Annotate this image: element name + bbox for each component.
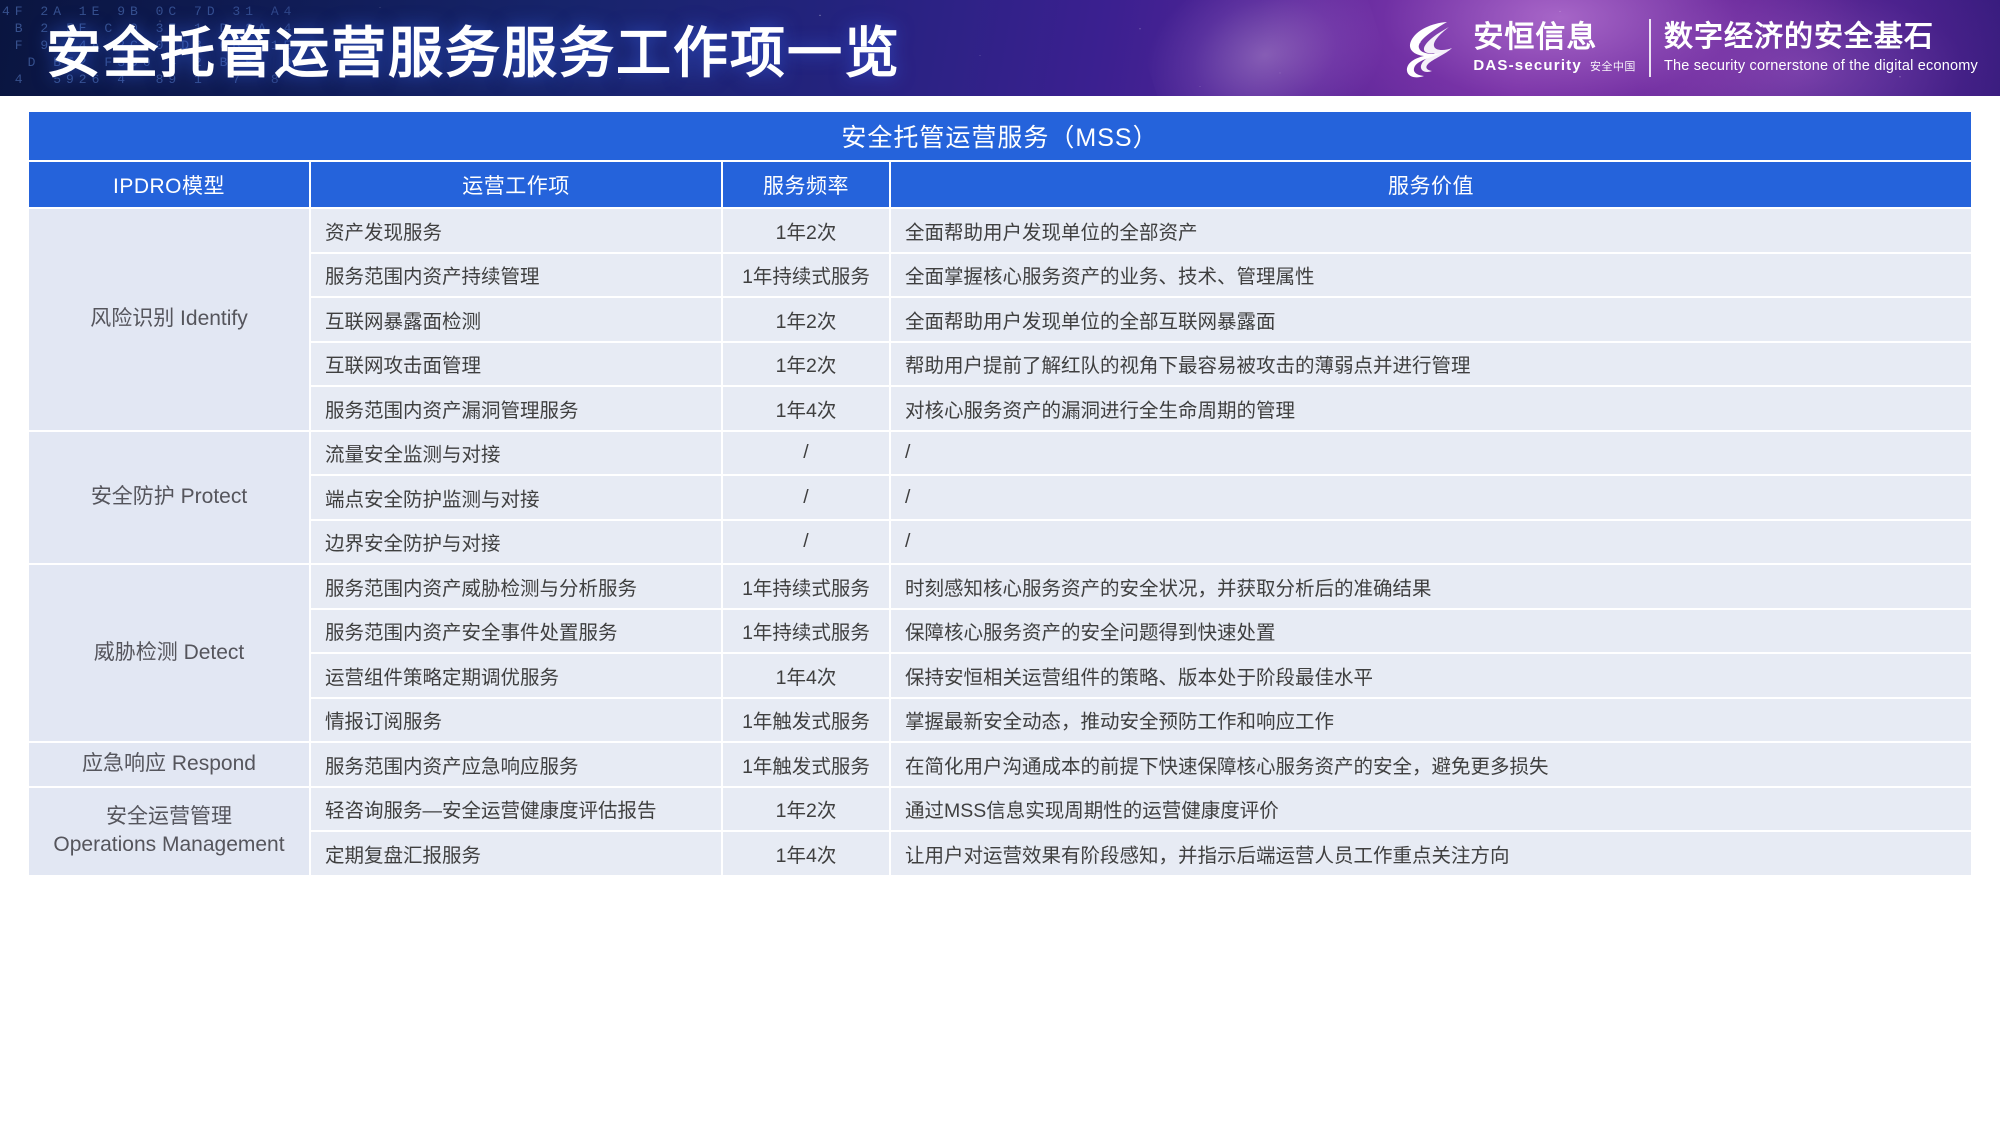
service-value-cell: 全面掌握核心服务资产的业务、技术、管理属性 (891, 254, 1971, 297)
work-item-cell: 端点安全防护监测与对接 (311, 476, 721, 519)
brand-tagline: 数字经济的安全基石 The security cornerstone of th… (1664, 22, 1978, 73)
service-frequency-cell: 1年触发式服务 (723, 743, 889, 786)
work-item-cell: 服务范围内资产应急响应服务 (311, 743, 721, 786)
service-frequency-cell: 1年触发式服务 (723, 699, 889, 742)
company-name-cn: 安恒信息 (1473, 22, 1636, 54)
work-item-cell: 边界安全防护与对接 (311, 521, 721, 564)
group-model-cell: 安全运营管理Operations Management (29, 788, 309, 875)
logo-divider (1649, 19, 1651, 77)
table-row: 运营组件策略定期调优服务1年4次保持安恒相关运营组件的策略、版本处于阶段最佳水平 (29, 654, 1971, 697)
service-frequency-cell: 1年2次 (723, 788, 889, 831)
table-row: 安全运营管理Operations Management轻咨询服务—安全运营健康度… (29, 788, 1971, 831)
group-model-cell: 风险识别 Identify (29, 209, 309, 430)
tagline-cn: 数字经济的安全基石 (1664, 22, 1978, 52)
work-item-cell: 互联网暴露面检测 (311, 298, 721, 341)
group-model-cell: 安全防护 Protect (29, 432, 309, 564)
table-title-row: 安全托管运营服务（MSS） (29, 112, 1971, 160)
table-head: 安全托管运营服务（MSS） IPDRO模型 运营工作项 服务频率 服务价值 (29, 112, 1971, 207)
service-frequency-cell: 1年持续式服务 (723, 565, 889, 608)
service-value-cell: / (891, 432, 1971, 475)
service-frequency-cell: / (723, 476, 889, 519)
brand-names: 安恒信息 DAS-security 安全中国 (1473, 22, 1636, 74)
service-value-cell: 帮助用户提前了解红队的视角下最容易被攻击的薄弱点并进行管理 (891, 343, 1971, 386)
page-title: 安全托管运营服务服务工作项一览 (46, 8, 901, 88)
group-model-cell: 威胁检测 Detect (29, 565, 309, 741)
service-value-cell: 在简化用户沟通成本的前提下快速保障核心服务资产的安全，避免更多损失 (891, 743, 1971, 786)
mss-table-container: 安全托管运营服务（MSS） IPDRO模型 运营工作项 服务频率 服务价值 风险… (27, 110, 1973, 877)
service-frequency-cell: 1年2次 (723, 209, 889, 252)
table-row: 端点安全防护监测与对接// (29, 476, 1971, 519)
service-value-cell: 对核心服务资产的漏洞进行全生命周期的管理 (891, 387, 1971, 430)
table-row: 互联网暴露面检测1年2次全面帮助用户发现单位的全部互联网暴露面 (29, 298, 1971, 341)
service-value-cell: 全面帮助用户发现单位的全部资产 (891, 209, 1971, 252)
work-item-cell: 服务范围内资产漏洞管理服务 (311, 387, 721, 430)
table-row: 风险识别 Identify资产发现服务1年2次全面帮助用户发现单位的全部资产 (29, 209, 1971, 252)
service-frequency-cell: 1年4次 (723, 654, 889, 697)
tagline-en: The security cornerstone of the digital … (1664, 58, 1978, 74)
work-item-cell: 互联网攻击面管理 (311, 343, 721, 386)
service-frequency-cell: / (723, 521, 889, 564)
service-frequency-cell: 1年2次 (723, 298, 889, 341)
work-item-cell: 资产发现服务 (311, 209, 721, 252)
table-row: 应急响应 Respond服务范围内资产应急响应服务1年触发式服务在简化用户沟通成… (29, 743, 1971, 786)
column-header-frequency: 服务频率 (723, 162, 889, 207)
page-header-banner: 4F 2A 1E 9B 0C 7D 31 A4 B 2 5E C 0 3F 1 … (0, 0, 2000, 96)
service-value-cell: 保持安恒相关运营组件的策略、版本处于阶段最佳水平 (891, 654, 1971, 697)
service-value-cell: 让用户对运营效果有阶段感知，并指示后端运营人员工作重点关注方向 (891, 832, 1971, 875)
work-item-cell: 轻咨询服务—安全运营健康度评估报告 (311, 788, 721, 831)
service-frequency-cell: 1年4次 (723, 832, 889, 875)
column-header-value: 服务价值 (891, 162, 1971, 207)
group-model-cell: 应急响应 Respond (29, 743, 309, 786)
service-value-cell: 保障核心服务资产的安全问题得到快速处置 (891, 610, 1971, 653)
work-item-cell: 服务范围内资产威胁检测与分析服务 (311, 565, 721, 608)
work-item-cell: 情报订阅服务 (311, 699, 721, 742)
table-row: 情报订阅服务1年触发式服务掌握最新安全动态，推动安全预防工作和响应工作 (29, 699, 1971, 742)
table-row: 定期复盘汇报服务1年4次让用户对运营效果有阶段感知，并指示后端运营人员工作重点关… (29, 832, 1971, 875)
service-value-cell: 时刻感知核心服务资产的安全状况，并获取分析后的准确结果 (891, 565, 1971, 608)
table-row: 服务范围内资产漏洞管理服务1年4次对核心服务资产的漏洞进行全生命周期的管理 (29, 387, 1971, 430)
table-row: 边界安全防护与对接// (29, 521, 1971, 564)
service-value-cell: / (891, 476, 1971, 519)
light-streak-decoration (1129, 0, 1400, 96)
column-header-work-item: 运营工作项 (311, 162, 721, 207)
company-name-en: DAS-security (1473, 57, 1582, 74)
work-item-cell: 定期复盘汇报服务 (311, 832, 721, 875)
table-body: 风险识别 Identify资产发现服务1年2次全面帮助用户发现单位的全部资产服务… (29, 209, 1971, 875)
table-row: 安全防护 Protect流量安全监测与对接// (29, 432, 1971, 475)
mss-service-table: 安全托管运营服务（MSS） IPDRO模型 运营工作项 服务频率 服务价值 风险… (27, 110, 1973, 877)
service-value-cell: 通过MSS信息实现周期性的运营健康度评价 (891, 788, 1971, 831)
table-row: 服务范围内资产持续管理1年持续式服务全面掌握核心服务资产的业务、技术、管理属性 (29, 254, 1971, 297)
service-frequency-cell: 1年4次 (723, 387, 889, 430)
work-item-cell: 流量安全监测与对接 (311, 432, 721, 475)
table-banner-title: 安全托管运营服务（MSS） (29, 112, 1971, 160)
work-item-cell: 运营组件策略定期调优服务 (311, 654, 721, 697)
das-security-swoosh-logo-icon (1402, 17, 1460, 79)
company-slogan-cn: 安全中国 (1590, 58, 1636, 74)
brand-logo-lockup: 安恒信息 DAS-security 安全中国 数字经济的安全基石 The sec… (1402, 17, 1978, 79)
table-row: 互联网攻击面管理1年2次帮助用户提前了解红队的视角下最容易被攻击的薄弱点并进行管… (29, 343, 1971, 386)
work-item-cell: 服务范围内资产持续管理 (311, 254, 721, 297)
table-column-header-row: IPDRO模型 运营工作项 服务频率 服务价值 (29, 162, 1971, 207)
service-value-cell: 全面帮助用户发现单位的全部互联网暴露面 (891, 298, 1971, 341)
table-row: 服务范围内资产安全事件处置服务1年持续式服务保障核心服务资产的安全问题得到快速处… (29, 610, 1971, 653)
service-frequency-cell: 1年持续式服务 (723, 254, 889, 297)
table-row: 威胁检测 Detect服务范围内资产威胁检测与分析服务1年持续式服务时刻感知核心… (29, 565, 1971, 608)
service-value-cell: 掌握最新安全动态，推动安全预防工作和响应工作 (891, 699, 1971, 742)
service-frequency-cell: 1年持续式服务 (723, 610, 889, 653)
service-value-cell: / (891, 521, 1971, 564)
service-frequency-cell: / (723, 432, 889, 475)
column-header-model: IPDRO模型 (29, 162, 309, 207)
service-frequency-cell: 1年2次 (723, 343, 889, 386)
work-item-cell: 服务范围内资产安全事件处置服务 (311, 610, 721, 653)
